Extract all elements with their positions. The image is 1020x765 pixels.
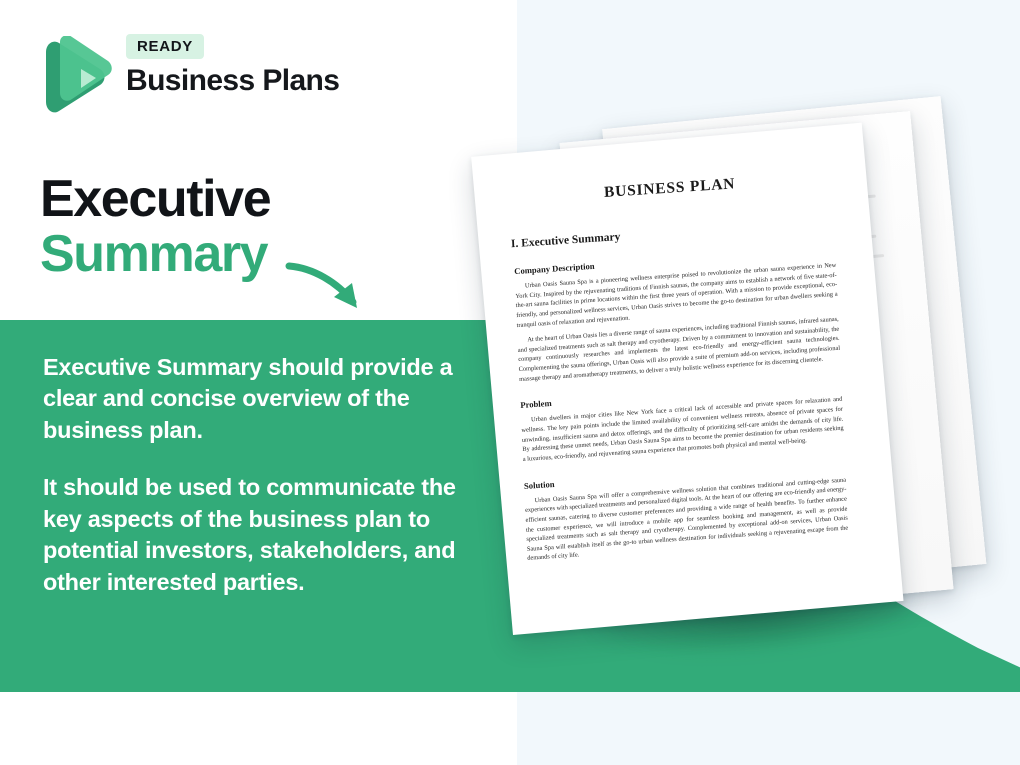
document-content: BUSINESS PLAN I. Executive Summary Compa… — [471, 127, 884, 633]
body-paragraph-1: Executive Summary should provide a clear… — [43, 352, 491, 446]
document-section-heading: I. Executive Summary — [511, 216, 841, 250]
slide-canvas: BUSINESS PLAN I. Executive Summary Compa… — [0, 0, 1020, 765]
curved-arrow-down-right-icon — [285, 258, 377, 320]
brand-logo[interactable]: READY Business Plans — [38, 32, 378, 124]
play-triangle-logo-icon — [38, 36, 114, 114]
ready-badge: READY — [126, 34, 204, 59]
page-title-line-2: Summary — [40, 227, 270, 282]
document-page-front[interactable]: BUSINESS PLAN I. Executive Summary Compa… — [471, 123, 903, 635]
document-paragraph: Urban Oasis Sauna Spa will offer a compr… — [524, 475, 854, 564]
page-title: Executive Summary — [40, 173, 270, 282]
page-title-line-1: Executive — [40, 173, 270, 225]
brand-logo-text: READY Business Plans — [126, 34, 339, 97]
body-paragraph-2: It should be used to communicate the key… — [43, 472, 491, 598]
brand-name: Business Plans — [126, 65, 339, 97]
body-copy: Executive Summary should provide a clear… — [43, 352, 491, 598]
document-title: BUSINESS PLAN — [501, 168, 839, 208]
